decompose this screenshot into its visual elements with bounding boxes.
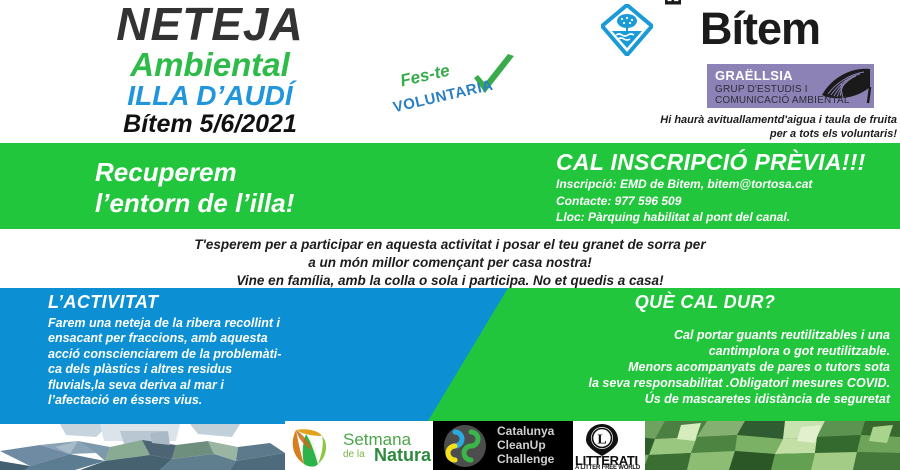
bring-body-line: Cal portar guants reutilitzables i una — [520, 327, 890, 343]
supply-note-line2: per a tots els voluntaris! — [575, 128, 897, 142]
emd-shield-tree-water-icon — [601, 4, 653, 61]
setmana-leaf-icon — [288, 426, 336, 470]
signup-title: CAL INSCRIPCIÓ PRÈVIA!!! — [556, 149, 866, 176]
green-banner-section: Recuperem l’entorn de l’illa! CAL INSCRI… — [0, 143, 900, 229]
setmana-word3: Natura — [374, 445, 431, 466]
lowpoly-foliage-pattern — [625, 421, 900, 470]
graellsia-line2: COMUNICACIÓ AMBIENTAL — [715, 95, 850, 106]
cleanup-wordmark: Catalunya CleanUp Challenge — [497, 425, 554, 467]
bring-panel: QUÈ CAL DUR? Cal portar guants reutilitz… — [520, 292, 890, 407]
supply-note: Hi haurà avituallamentd'aigua i taula de… — [575, 114, 897, 142]
activity-body-line: ca dels plàstics i altres residus — [48, 362, 308, 377]
invitation-section: T'esperem per a participar en aquesta ac… — [0, 229, 900, 288]
activity-heading: L’ACTIVITAT — [48, 292, 308, 313]
signup-detail-place: Lloc: Pàrquing habilitat al pont del can… — [556, 209, 812, 226]
litterati-logo: L LITTERATI A LITTER FREE WORLD — [573, 421, 645, 470]
poster-title-block: NETEJA Ambiental ILLA D’AUDÍ Bítem 5/6/2… — [60, 2, 360, 137]
title-line-neteja: NETEJA — [60, 2, 360, 47]
signup-detail-email: Inscripció: EMD de Bitem, bitem@tortosa.… — [556, 176, 812, 193]
activity-panel: L’ACTIVITAT Farem una neteja de la riber… — [48, 292, 308, 408]
invitation-line1: T'esperem per a participar en aquesta ac… — [0, 229, 900, 254]
graellsia-name: GRAËLLSIA — [715, 68, 793, 83]
litterati-tagline: A LITTER FREE WORLD — [575, 465, 640, 470]
invitation-line2: a un món millor començant per casa nostr… — [0, 254, 900, 272]
volunteer-stamp: Fes-te VOLUNTARIA — [392, 52, 522, 114]
activity-body: Farem una neteja de la ribera recollint … — [48, 316, 308, 408]
bring-body-line: Ús de mascaretes idistància de seguretat — [520, 391, 890, 407]
cleanup-links-icon — [437, 424, 493, 470]
activity-body-line: fluvials,la seva deriva al mar i — [48, 378, 308, 393]
emd-abbrev: EMD — [660, 0, 687, 6]
poster-root: NETEJA Ambiental ILLA D’AUDÍ Bítem 5/6/2… — [0, 0, 900, 470]
activity-body-line: acció conscienciarem de la problemàti- — [48, 347, 308, 362]
title-line-illa: ILLA D’AUDÍ — [60, 82, 360, 110]
catalunya-cleanup-logo: Catalunya CleanUp Challenge — [433, 421, 573, 470]
cleanup-line3: Challenge — [497, 453, 554, 467]
graellsia-logo: GRAËLLSIA GRUP D'ESTUDIS I COMUNICACIÓ A… — [707, 64, 874, 108]
cleanup-line1: Catalunya — [497, 425, 554, 439]
setmana-word2: de la — [343, 449, 365, 460]
title-line-ambiental: Ambiental — [60, 48, 360, 81]
slogan-line1: Recuperem — [95, 157, 294, 188]
bring-heading: QUÈ CAL DUR? — [520, 292, 890, 313]
footer-section: Setmana de la Natura Catalunya CleanUp C… — [0, 421, 900, 470]
title-line-date: Bítem 5/6/2021 — [60, 112, 360, 137]
svg-text:L: L — [597, 433, 606, 448]
lowpoly-landscape-pattern — [0, 421, 285, 470]
slogan-line2: l’entorn de l’illa! — [95, 188, 294, 219]
graellsia-line1: GRUP D'ESTUDIS I — [715, 84, 808, 95]
setmana-natura-logo: Setmana de la Natura — [288, 424, 433, 469]
info-panel-section: L’ACTIVITAT Farem una neteja de la riber… — [0, 288, 900, 421]
cleanup-line2: CleanUp — [497, 439, 554, 453]
bring-body-line: cantimplora o got reutilitzable. — [520, 343, 890, 359]
activity-body-line: ensacant per fraccions, amb aquesta — [48, 331, 308, 346]
bring-body: Cal portar guants reutilitzables i una c… — [520, 327, 890, 407]
slogan: Recuperem l’entorn de l’illa! — [95, 157, 294, 218]
emd-name: Bítem — [700, 6, 820, 51]
header-section: NETEJA Ambiental ILLA D’AUDÍ Bítem 5/6/2… — [0, 0, 900, 143]
bring-body-line: Menors acompanyats de pares o tutors sot… — [520, 359, 890, 375]
supply-note-line1: Hi haurà avituallamentd'aigua i taula de… — [575, 114, 897, 128]
activity-body-line: l’afectació en éssers vius. — [48, 393, 308, 408]
activity-body-line: Farem una neteja de la ribera recollint … — [48, 316, 308, 331]
signup-detail-phone: Contacte: 977 596 509 — [556, 193, 812, 210]
bring-body-line: la seva responsabilitat .Obligatori mesu… — [520, 375, 890, 391]
